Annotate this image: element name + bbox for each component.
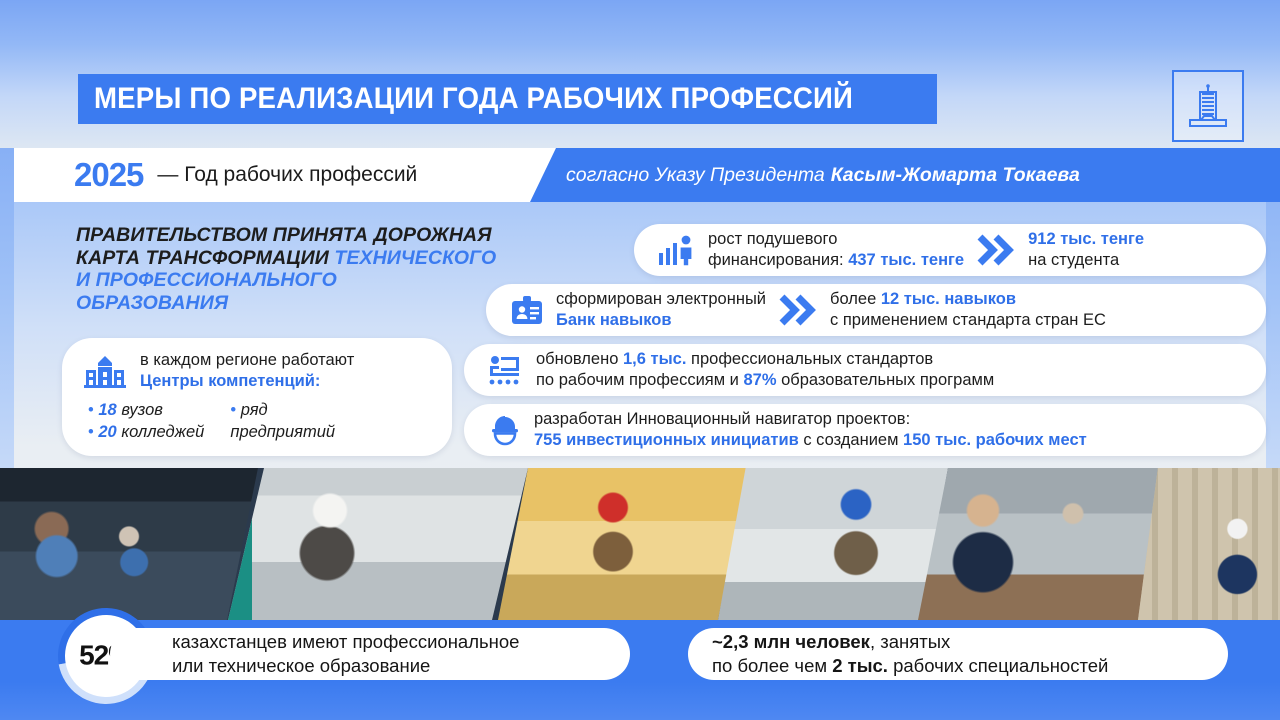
- bottom-banner: 52% казахстанцев имеют профессиональное …: [0, 620, 1280, 720]
- card-standards-line-2-tail: образовательных программ: [777, 371, 995, 389]
- document-data-icon: [488, 353, 524, 387]
- government-building-icon: [84, 354, 126, 388]
- competence-centers-list-right: ряд предприятий: [230, 399, 335, 443]
- year-label: — Год рабочих профессий: [157, 163, 417, 187]
- card-navigator-line-2-mid: с созданием: [799, 431, 903, 449]
- competence-centers-line-1: в каждом регионе работают: [140, 350, 354, 371]
- bottom-left-line-2: или техническое образование: [172, 654, 519, 678]
- competence-centers-header: в каждом регионе работают Центры компете…: [84, 350, 354, 391]
- photo-blue-helmet-equipment: [718, 468, 948, 620]
- bottom-left-text: казахстанцев имеют профессиональное или …: [172, 630, 519, 678]
- cc-left-1-text: колледжей: [117, 423, 205, 441]
- roadmap-line-2-plain: КАРТА ТРАНСФОРМАЦИИ: [76, 247, 334, 269]
- list-item: 18 вузов: [88, 399, 204, 421]
- roadmap-line-2-highlight: ТЕХНИЧЕСКОГО: [334, 247, 496, 269]
- list-item: 20 колледжей: [88, 421, 204, 443]
- card-skills-bank: сформирован электронный Банк навыков бол…: [486, 284, 1266, 336]
- decree-banner: согласно Указу Президента Касым-Жомарта …: [530, 148, 1280, 202]
- photo-woman-operator-computer: [918, 468, 1168, 620]
- card-standards-line-1-tail: профессиональных стандартов: [686, 350, 933, 368]
- decree-prefix: согласно Указу Президента: [566, 164, 825, 187]
- card-navigator-text: разработан Инновационный навигатор проек…: [534, 409, 1087, 451]
- roadmap-line-1: ПРАВИТЕЛЬСТВОМ ПРИНЯТА ДОРОЖНАЯ: [76, 224, 636, 247]
- card-standards-line-1-plain: обновлено: [536, 350, 623, 368]
- card-navigator-line-1: разработан Инновационный навигатор проек…: [534, 409, 1087, 430]
- card-financing-current-value: 437 тыс. тенге: [848, 251, 964, 269]
- photo-control-room-panel: [1138, 468, 1280, 620]
- government-house-emblem-icon: [1172, 70, 1244, 142]
- card-navigator-line-2: 755 инвестиционных инициатив с созданием…: [534, 430, 1087, 451]
- bottom-right-line-1-tail: , занятых: [870, 631, 950, 652]
- card-standards-count: 1,6 тыс.: [623, 350, 686, 368]
- card-financing-line-2: финансирования: 437 тыс. тенге: [708, 250, 964, 271]
- chevron-right-icon: [646, 640, 690, 683]
- year-strip-left: 2025 — Год рабочих профессий: [14, 148, 417, 202]
- year-strip: 2025 — Год рабочих профессий согласно Ук…: [14, 148, 1266, 202]
- card-skills-bank-line-2: Банк навыков: [556, 310, 766, 331]
- main-content: ПРАВИТЕЛЬСТВОМ ПРИНЯТА ДОРОЖНАЯ КАРТА ТР…: [14, 206, 1266, 468]
- card-skills-bank-right-line-2: с применением стандарта стран ЕС: [830, 310, 1106, 331]
- list-item: ряд: [230, 399, 335, 421]
- cc-right-0-text: ряд: [241, 401, 268, 419]
- chevron-right-icon: [778, 293, 818, 327]
- card-navigator-jobs: 150 тыс. рабочих мест: [903, 431, 1087, 449]
- card-skills-bank-skill-count: 12 тыс. навыков: [881, 290, 1016, 308]
- card-financing: рост подушевого финансирования: 437 тыс.…: [634, 224, 1266, 276]
- photo-red-helmet-training: [498, 468, 748, 620]
- year-number: 2025: [74, 156, 143, 194]
- card-professional-standards: обновлено 1,6 тыс. профессиональных стан…: [464, 344, 1266, 396]
- bottom-employed-count: ~2,3 млн человек: [712, 631, 870, 652]
- card-standards-text: обновлено 1,6 тыс. профессиональных стан…: [536, 349, 994, 391]
- infographic-page: МЕРЫ ПО РЕАЛИЗАЦИИ ГОДА РАБОЧИХ ПРОФЕССИ…: [0, 0, 1280, 720]
- bottom-right-line-2-tail: рабочих специальностей: [888, 655, 1108, 676]
- page-title: МЕРЫ ПО РЕАЛИЗАЦИИ ГОДА РАБОЧИХ ПРОФЕССИ…: [78, 74, 937, 124]
- card-innovation-navigator: разработан Инновационный навигатор проек…: [464, 404, 1266, 456]
- bottom-right-line-2: по более чем 2 тыс. рабочих специальност…: [712, 654, 1108, 678]
- competence-centers-lists: 18 вузов 20 колледжей ряд предприятий: [84, 399, 335, 443]
- card-standards-line-2: по рабочим профессиям и 87% образователь…: [536, 370, 994, 391]
- card-skills-bank-right-line-1: более 12 тыс. навыков: [830, 289, 1106, 310]
- page-title-text: МЕРЫ ПО РЕАЛИЗАЦИИ ГОДА РАБОЧИХ ПРОФЕССИ…: [94, 82, 853, 116]
- card-financing-right-text: 912 тыс. тенге на студента: [1028, 229, 1144, 271]
- card-standards-line-2-plain: по рабочим профессиям и: [536, 371, 743, 389]
- card-navigator-initiatives: 755 инвестиционных инициатив: [534, 431, 799, 449]
- bottom-card-left: казахстанцев имеют профессиональное или …: [110, 628, 630, 680]
- hero-banner: МЕРЫ ПО РЕАЛИЗАЦИИ ГОДА РАБОЧИХ ПРОФЕССИ…: [0, 0, 1280, 148]
- cc-left-0-text: вузов: [117, 401, 163, 419]
- bottom-right-line-2-plain: по более чем: [712, 655, 832, 676]
- card-financing-target-value: 912 тыс. тенге: [1028, 229, 1144, 250]
- person-growth-chart-icon: [658, 233, 696, 267]
- card-skills-bank-left-text: сформирован электронный Банк навыков: [556, 289, 766, 331]
- list-item: предприятий: [230, 421, 335, 443]
- bottom-specialties-count: 2 тыс.: [832, 655, 888, 676]
- competence-centers-line-2: Центры компетенций:: [140, 371, 354, 392]
- competence-centers-title-text: в каждом регионе работают Центры компете…: [140, 350, 354, 391]
- card-skills-bank-line-1: сформирован электронный: [556, 289, 766, 310]
- card-skills-bank-right-text: более 12 тыс. навыков с применением стан…: [830, 289, 1106, 331]
- card-competence-centers: в каждом регионе работают Центры компете…: [62, 338, 452, 456]
- photo-worker-control-panel: [228, 468, 528, 620]
- chevron-right-icon: [976, 233, 1016, 267]
- bottom-right-text: ~2,3 млн человек, занятых по более чем 2…: [712, 630, 1108, 678]
- card-financing-line-2-plain: финансирования:: [708, 251, 848, 269]
- decree-president-name: Касым-Жомарта Токаева: [831, 164, 1080, 187]
- card-financing-left-text: рост подушевого финансирования: 437 тыс.…: [708, 229, 964, 271]
- hard-hat-icon: [488, 413, 522, 447]
- cc-left-0-number: 18: [98, 401, 116, 419]
- cc-right-1-text: предприятий: [230, 423, 335, 441]
- card-standards-line-1: обновлено 1,6 тыс. профессиональных стан…: [536, 349, 994, 370]
- competence-centers-list-left: 18 вузов 20 колледжей: [88, 399, 204, 443]
- roadmap-line-2: КАРТА ТРАНСФОРМАЦИИ ТЕХНИЧЕСКОГО: [76, 247, 636, 270]
- card-financing-line-1: рост подушевого: [708, 229, 964, 250]
- photo-factory-women-workers: [0, 468, 258, 620]
- card-financing-target-unit: на студента: [1028, 250, 1144, 271]
- cc-left-1-number: 20: [98, 423, 116, 441]
- bottom-left-line-1: казахстанцев имеют профессиональное: [172, 630, 519, 654]
- photo-strip: [0, 468, 1280, 620]
- card-standards-percent: 87%: [743, 371, 776, 389]
- bottom-card-right: ~2,3 млн человек, занятых по более чем 2…: [688, 628, 1228, 680]
- id-badge-icon: [510, 293, 544, 327]
- bottom-right-line-1: ~2,3 млн человек, занятых: [712, 630, 1108, 654]
- card-skills-bank-right-prefix: более: [830, 290, 881, 308]
